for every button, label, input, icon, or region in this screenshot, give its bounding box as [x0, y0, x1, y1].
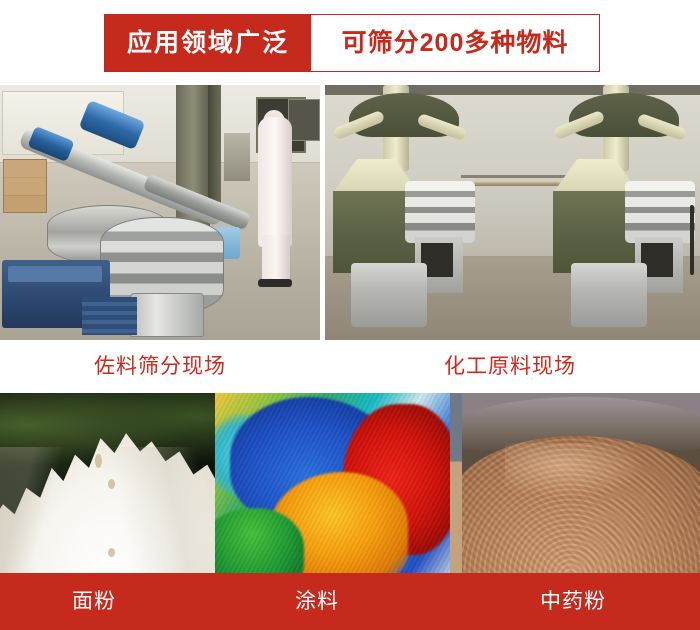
worker-legs: [262, 235, 290, 283]
caption-seasoning-sieving-site: 佐料筛分现场: [0, 340, 320, 393]
photo-flour: [0, 393, 215, 573]
power-cable: [690, 205, 694, 275]
control-cabinet-secondary: [288, 99, 320, 141]
caption-chemical-raw-material-site: 化工原料现场: [320, 340, 700, 393]
photo-seasoning-sieving-site: [0, 85, 320, 340]
bottom-photo-row: [0, 393, 700, 573]
collection-drum: [571, 263, 647, 327]
powder-highlight: [505, 443, 643, 497]
application-fields-promo-page: 应用领域广泛 可筛分200多种物料: [0, 0, 700, 630]
photo-right-edge: [450, 393, 462, 573]
photo-chemical-raw-material-site: [325, 85, 700, 340]
flour-speck: [108, 548, 115, 557]
powder-texture-overlay: [215, 393, 462, 573]
label-flour: 面粉: [0, 573, 215, 630]
caption-row: 佐料筛分现场 化工原料现场: [0, 340, 700, 393]
flour-speck: [95, 454, 102, 468]
sieving-unit-right: [549, 85, 699, 340]
photo-coating-pigments: [215, 393, 462, 573]
vibrating-sieve-decks: [625, 181, 695, 243]
blue-pallet: [82, 297, 137, 335]
vibrating-sieve-decks: [405, 181, 475, 243]
carton-stack: [3, 159, 47, 213]
steel-column-secondary: [208, 85, 221, 203]
top-photo-row: [0, 85, 700, 340]
sieving-unit-left: [329, 85, 479, 340]
header-badge: 应用领域广泛: [105, 15, 311, 71]
header-headline: 可筛分200多种物料: [311, 15, 599, 71]
worker-body: [258, 117, 292, 247]
header-banner: 应用领域广泛 可筛分200多种物料: [104, 14, 600, 72]
worker-shoes: [258, 279, 292, 287]
blue-material-bin-lip: [8, 266, 102, 282]
collection-drum: [351, 263, 427, 327]
label-coating: 涂料: [215, 573, 462, 630]
bottom-label-bar: 面粉 涂料 中药粉: [0, 573, 700, 630]
wall-shelf: [224, 133, 250, 181]
label-herbal-powder: 中药粉: [462, 573, 700, 630]
vibrating-sieve-base: [130, 293, 204, 337]
flour-speck: [108, 479, 115, 489]
photo-herbal-powder: [462, 393, 700, 573]
